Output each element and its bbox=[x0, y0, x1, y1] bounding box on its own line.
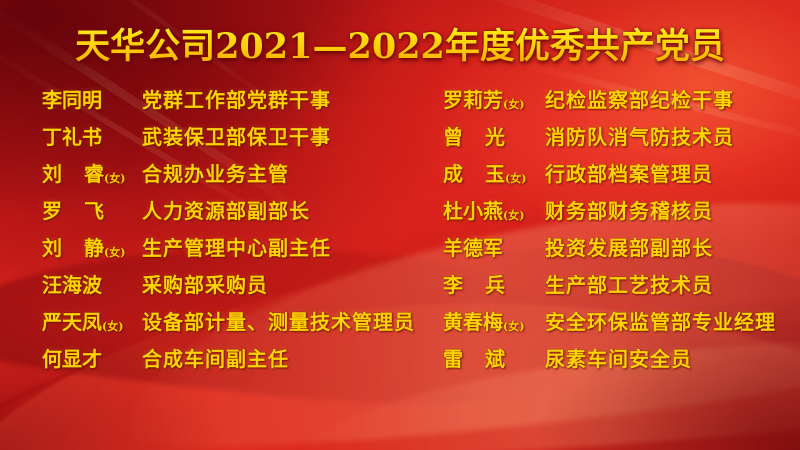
honoree-row: 雷斌尿素车间安全员 bbox=[443, 343, 800, 380]
poster-title: 天华公司2021—2022年度优秀共产党员 bbox=[0, 18, 800, 69]
honoree-position: 尿素车间安全员 bbox=[535, 343, 692, 372]
honoree-column-right: 罗莉芳(女)纪检监察部纪检干事曾光消防队消气防技术员成玉(女)行政部档案管理员杜… bbox=[415, 84, 800, 380]
gender-marker: (女) bbox=[104, 246, 125, 259]
honoree-position: 安全环保监管部专业经理 bbox=[535, 306, 776, 335]
honoree-name: 何显才 bbox=[42, 343, 128, 372]
honoree-position: 投资发展部副部长 bbox=[535, 232, 713, 261]
honoree-row: 曾光消防队消气防技术员 bbox=[443, 121, 800, 158]
honoree-row: 黄春梅(女)安全环保监管部专业经理 bbox=[443, 306, 800, 343]
honoree-row: 刘静(女)生产管理中心副主任 bbox=[42, 232, 415, 269]
honoree-name: 汪海波 bbox=[42, 269, 128, 298]
gender-marker: (女) bbox=[503, 209, 524, 222]
honoree-row: 罗莉芳(女)纪检监察部纪检干事 bbox=[443, 84, 800, 121]
honoree-row: 何显才合成车间副主任 bbox=[42, 343, 415, 380]
honoree-row: 刘睿(女)合规办业务主管 bbox=[42, 158, 415, 195]
gender-marker: (女) bbox=[505, 172, 526, 185]
honoree-name: 雷斌 bbox=[443, 343, 535, 372]
honoree-name: 杜小燕(女) bbox=[443, 195, 535, 224]
gender-marker: (女) bbox=[104, 172, 125, 185]
honoree-row: 成玉(女)行政部档案管理员 bbox=[443, 158, 800, 195]
honoree-name: 羊德军 bbox=[443, 232, 535, 261]
honoree-name: 刘睿(女) bbox=[42, 158, 128, 187]
gender-marker: (女) bbox=[503, 320, 524, 333]
gender-marker: (女) bbox=[503, 98, 524, 111]
honoree-columns: 李同明党群工作部党群干事丁礼书武装保卫部保卫干事刘睿(女)合规办业务主管罗飞人力… bbox=[0, 84, 800, 380]
honoree-position: 合成车间副主任 bbox=[128, 343, 289, 372]
honoree-name: 黄春梅(女) bbox=[443, 306, 535, 335]
honoree-position: 采购部采购员 bbox=[128, 269, 268, 298]
honoree-name: 罗莉芳(女) bbox=[443, 84, 535, 113]
honoree-name: 刘静(女) bbox=[42, 232, 128, 261]
honoree-position: 纪检监察部纪检干事 bbox=[535, 84, 734, 113]
honoree-position: 设备部计量、测量技术管理员 bbox=[128, 306, 415, 335]
honoree-row: 杜小燕(女)财务部财务稽核员 bbox=[443, 195, 800, 232]
honoree-name: 成玉(女) bbox=[443, 158, 535, 187]
honoree-position: 消防队消气防技术员 bbox=[535, 121, 734, 150]
honoree-row: 羊德军投资发展部副部长 bbox=[443, 232, 800, 269]
honoree-position: 武装保卫部保卫干事 bbox=[128, 121, 331, 150]
honoree-position: 合规办业务主管 bbox=[128, 158, 289, 187]
honoree-row: 汪海波采购部采购员 bbox=[42, 269, 415, 306]
honoree-name: 丁礼书 bbox=[42, 121, 128, 150]
honoree-row: 李兵生产部工艺技术员 bbox=[443, 269, 800, 306]
honoree-name: 曾光 bbox=[443, 121, 535, 150]
honoree-column-left: 李同明党群工作部党群干事丁礼书武装保卫部保卫干事刘睿(女)合规办业务主管罗飞人力… bbox=[0, 84, 415, 380]
honoree-name: 严天凤(女) bbox=[42, 306, 128, 335]
honoree-row: 丁礼书武装保卫部保卫干事 bbox=[42, 121, 415, 158]
honoree-row: 罗飞人力资源部副部长 bbox=[42, 195, 415, 232]
honoree-position: 党群工作部党群干事 bbox=[128, 84, 331, 113]
award-poster: 天华公司2021—2022年度优秀共产党员 李同明党群工作部党群干事丁礼书武装保… bbox=[0, 0, 800, 450]
honoree-row: 严天凤(女)设备部计量、测量技术管理员 bbox=[42, 306, 415, 343]
gender-marker: (女) bbox=[102, 320, 123, 333]
honoree-position: 行政部档案管理员 bbox=[535, 158, 713, 187]
honoree-row: 李同明党群工作部党群干事 bbox=[42, 84, 415, 121]
honoree-name: 李同明 bbox=[42, 84, 128, 113]
honoree-position: 财务部财务稽核员 bbox=[535, 195, 713, 224]
honoree-position: 生产管理中心副主任 bbox=[128, 232, 331, 261]
honoree-name: 李兵 bbox=[443, 269, 535, 298]
honoree-name: 罗飞 bbox=[42, 195, 128, 224]
poster-content: 天华公司2021—2022年度优秀共产党员 李同明党群工作部党群干事丁礼书武装保… bbox=[0, 0, 800, 450]
honoree-position: 人力资源部副部长 bbox=[128, 195, 310, 224]
honoree-position: 生产部工艺技术员 bbox=[535, 269, 713, 298]
